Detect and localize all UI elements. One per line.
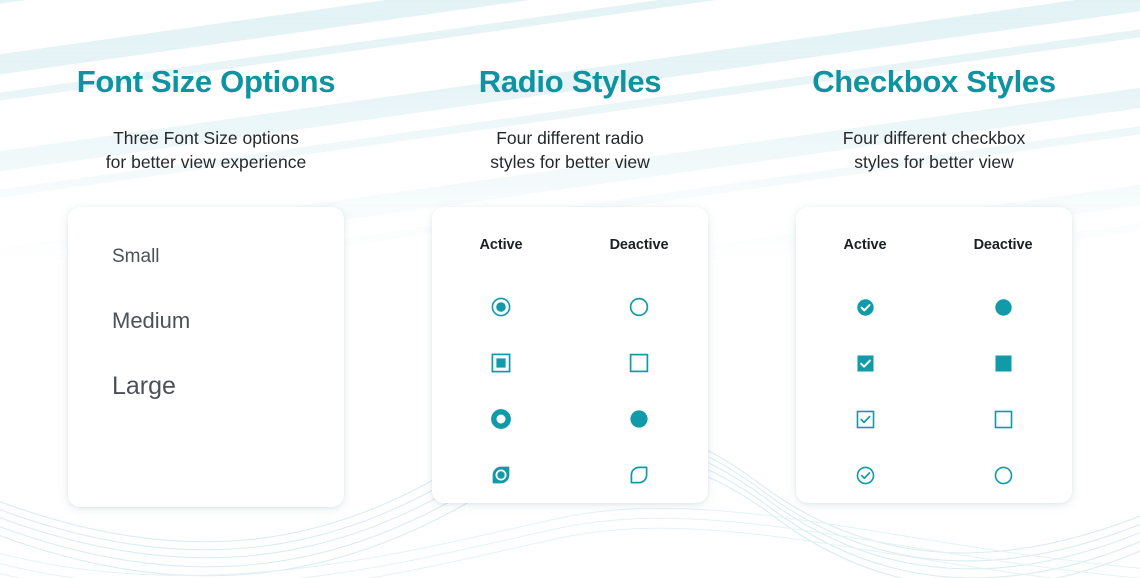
column-font-size-options: Font Size Options Three Font Size option… [24, 0, 388, 578]
column-radio-styles: Radio Styles Four different radio styles… [388, 0, 752, 578]
font-size-option-small[interactable]: Small [112, 247, 344, 266]
radio-style-row-4 [432, 447, 708, 503]
checkbox-column-headers: Active Deactive [796, 237, 1072, 253]
checkbox-style-row-1 [796, 279, 1072, 335]
subtitle-radio-styles: Four different radio styles for better v… [490, 126, 650, 176]
column-checkbox-styles: Checkbox Styles Four different checkbox … [752, 0, 1116, 578]
radio-ring-dot-icon[interactable] [432, 296, 570, 318]
radio-square-filled-icon[interactable] [432, 352, 570, 374]
subtitle-font-size: Three Font Size options for better view … [106, 126, 306, 176]
checkbox-square-check-filled-icon[interactable] [796, 353, 934, 374]
card-radio-styles: Active Deactive [432, 207, 708, 503]
radio-column-headers: Active Deactive [432, 237, 708, 253]
radio-header-active: Active [432, 237, 570, 253]
radio-style-row-2 [432, 335, 708, 391]
checkbox-circle-check-outline-icon[interactable] [796, 465, 934, 486]
checkbox-square-outline-icon[interactable] [934, 409, 1072, 430]
card-checkbox-styles: Active Deactive [796, 207, 1072, 503]
radio-header-deactive: Deactive [570, 237, 708, 253]
radio-circle-outline-icon[interactable] [570, 296, 708, 318]
checkbox-style-row-4 [796, 447, 1072, 503]
radio-style-row-1 [432, 279, 708, 335]
page-title-font-size: Font Size Options [77, 66, 335, 99]
checkbox-circle-check-filled-icon[interactable] [796, 297, 934, 318]
radio-circle-filled-icon[interactable] [570, 408, 708, 430]
checkbox-header-deactive: Deactive [934, 237, 1072, 253]
page-title-radio-styles: Radio Styles [479, 66, 661, 99]
radio-square-outline-icon[interactable] [570, 352, 708, 374]
checkbox-style-row-3 [796, 391, 1072, 447]
checkbox-circle-filled-icon[interactable] [934, 297, 1072, 318]
radio-cutcircle-filled-icon[interactable] [432, 464, 570, 486]
checkbox-circle-outline-icon[interactable] [934, 465, 1072, 486]
checkbox-square-filled-icon[interactable] [934, 353, 1072, 374]
columns-container: Font Size Options Three Font Size option… [0, 0, 1140, 578]
subtitle-checkbox-styles: Four different checkbox styles for bette… [843, 126, 1026, 176]
card-font-sizes: Small Medium Large [68, 207, 344, 507]
page-title-checkbox-styles: Checkbox Styles [812, 66, 1056, 99]
radio-style-row-3 [432, 391, 708, 447]
checkbox-header-active: Active [796, 237, 934, 253]
radio-cutcircle-outline-icon[interactable] [570, 464, 708, 486]
checkbox-style-row-2 [796, 335, 1072, 391]
page-root: Font Size Options Three Font Size option… [0, 0, 1140, 578]
font-size-option-large[interactable]: Large [112, 374, 344, 399]
radio-donut-icon[interactable] [432, 408, 570, 430]
font-size-option-medium[interactable]: Medium [112, 310, 344, 332]
checkbox-square-check-outline-icon[interactable] [796, 409, 934, 430]
